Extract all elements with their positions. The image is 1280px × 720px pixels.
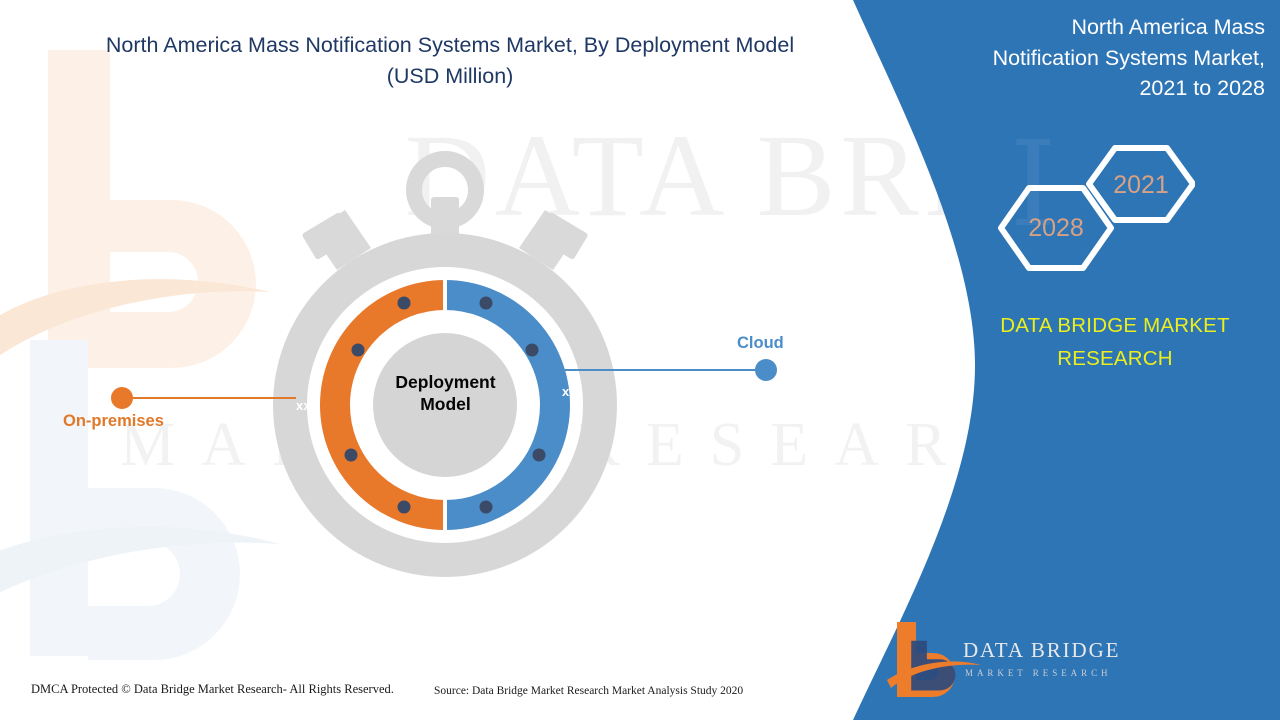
panel-title: North America Mass Notification Systems … <box>975 12 1265 104</box>
brand-name-line1: DATA BRIDGE MARKET <box>1000 314 1230 337</box>
brand-name-line2: RESEARCH <box>1057 347 1173 370</box>
panel-title-line3: 2021 to 2028 <box>1139 76 1265 100</box>
hex-2021-label: 2021 <box>1113 171 1169 199</box>
logo-subwordmark: MARKET RESEARCH <box>965 668 1112 678</box>
panel-title-line1: North America Mass <box>1071 15 1265 39</box>
logo-wordmark: DATA BRIDGE <box>963 638 1120 663</box>
infographic-canvas: DATA BRIDGE MARKET RESEARCH <box>0 0 1280 720</box>
year-hexagons: 2028 2021 <box>985 140 1195 290</box>
panel-title-line2: Notification Systems Market, <box>993 46 1265 70</box>
hex-2028-label: 2028 <box>1028 214 1084 242</box>
brand-name: DATA BRIDGE MARKET RESEARCH <box>965 310 1265 376</box>
